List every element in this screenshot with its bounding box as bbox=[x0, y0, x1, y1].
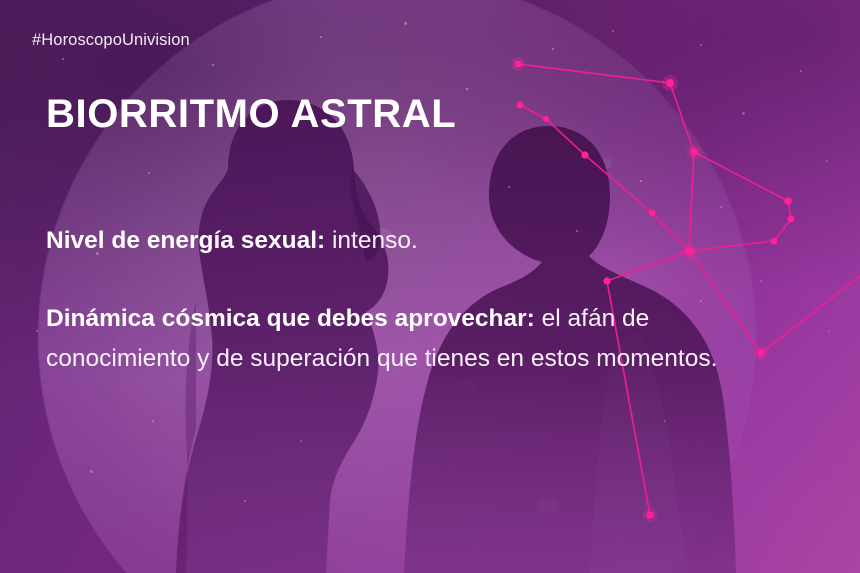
body-copy: Nivel de energía sexual: intenso. Dinámi… bbox=[46, 196, 776, 403]
paragraph-energy-level-label: Nivel de energía sexual: bbox=[46, 227, 325, 254]
page-title: BIORRITMO ASTRAL bbox=[46, 92, 456, 137]
horoscope-card: #HoroscopoUnivision BIORRITMO ASTRAL Niv… bbox=[0, 0, 860, 573]
paragraph-energy-level: Nivel de energía sexual: intenso. bbox=[46, 221, 776, 261]
paragraph-cosmic-dynamic: Dinámica cósmica que debes aprovechar: e… bbox=[46, 299, 776, 379]
paragraph-cosmic-dynamic-label: Dinámica cósmica que debes aprovechar: bbox=[46, 305, 535, 332]
paragraph-energy-level-value: intenso. bbox=[325, 227, 418, 254]
text-layer: #HoroscopoUnivision BIORRITMO ASTRAL Niv… bbox=[0, 0, 860, 573]
brand-hashtag: #HoroscopoUnivision bbox=[32, 31, 190, 50]
